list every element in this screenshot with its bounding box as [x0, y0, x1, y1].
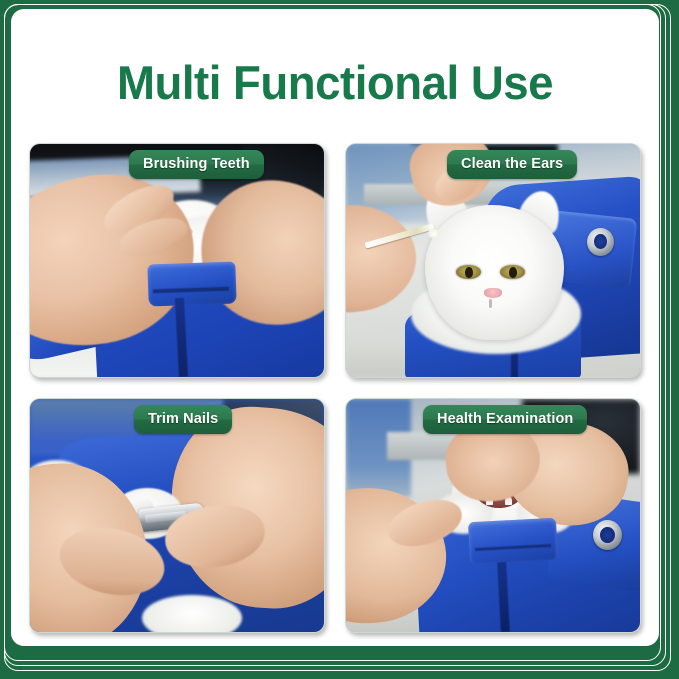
panel-clean-the-ears[interactable]: Clean the Ears: [345, 143, 641, 378]
panel-brushing-teeth[interactable]: Brushing Teeth: [29, 143, 325, 378]
panel-label-trim-nails: Trim Nails: [134, 405, 232, 434]
page-title: Multi Functional Use: [21, 59, 650, 106]
infographic-card: Multi Functional Use: [11, 9, 659, 646]
panel-label-health-examination: Health Examination: [423, 405, 587, 434]
panel-label-brushing-teeth: Brushing Teeth: [129, 150, 264, 179]
panel-trim-nails[interactable]: Trim Nails: [29, 398, 325, 633]
outer-green-frame: Multi Functional Use: [0, 0, 679, 679]
panel-label-clean-the-ears: Clean the Ears: [447, 150, 577, 179]
feature-panel-grid: Brushing Teeth: [29, 143, 641, 633]
panel-health-examination[interactable]: Health Examination: [345, 398, 641, 633]
